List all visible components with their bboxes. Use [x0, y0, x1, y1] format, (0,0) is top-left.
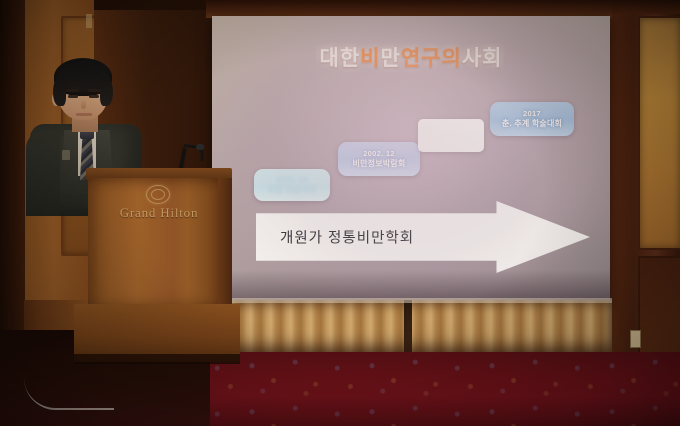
podium-brand-text: Grand Hilton	[88, 205, 230, 221]
badge-first-name: 비만 학술대회	[268, 185, 316, 195]
speaker-eye-left	[68, 95, 78, 98]
right-wall-panel-upper	[638, 16, 680, 250]
badge-2017-name: 춘. 추계 학술대회	[502, 119, 562, 129]
title-segment-1: 비	[360, 47, 380, 70]
speaker-eyebrow-right	[88, 89, 101, 92]
hotel-emblem-icon	[146, 185, 170, 204]
title-segment-2: 만	[381, 47, 401, 70]
microphone-head	[196, 144, 204, 150]
projection-screen: 대한비만연구의사회 2017 춘. 추계 학술대회 2002. 12 비만정보박…	[212, 16, 610, 304]
wall-trim	[94, 0, 212, 10]
slide-title: 대한비만연구의사회	[212, 42, 610, 72]
speaker-eye-right	[89, 95, 99, 98]
blank-placeholder-box	[418, 119, 484, 152]
title-segment-0: 대한	[320, 47, 361, 70]
hotel-emblem-inner	[151, 189, 165, 200]
door-hinge	[86, 14, 92, 28]
speaker-nose	[81, 99, 86, 109]
curtain-top-edge	[206, 298, 612, 303]
speaker-hair-left	[53, 76, 66, 106]
arrow-banner-text: 개원가 정통비만학회	[280, 227, 414, 248]
title-segment-3: 연구의	[401, 47, 462, 70]
curtain-gap	[404, 300, 412, 356]
timeline-badge-2002: 2002. 12 비만정보박람회	[338, 142, 420, 176]
badge-2002-year: 2002. 12	[363, 149, 395, 158]
arrow-banner: 개원가 정통비만학회	[256, 201, 590, 273]
badge-first-year: 2000. 03	[276, 175, 308, 184]
speaker-eyebrow-left	[66, 89, 79, 92]
timeline-badge-2017: 2017 춘. 추계 학술대회	[490, 102, 574, 136]
badge-2002-name: 비만정보박람회	[353, 159, 406, 169]
left-dark-wall	[0, 0, 24, 330]
speaker-hair-right	[100, 76, 113, 106]
right-wall-panel-lower	[638, 256, 680, 356]
title-segment-4: 사회	[462, 47, 503, 70]
conference-photo-scene: 대한비만연구의사회 2017 춘. 추계 학술대회 2002. 12 비만정보박…	[0, 0, 680, 426]
speaker-shoulder-left	[26, 132, 60, 216]
speaker-name-badge	[62, 150, 70, 160]
timeline-badge-first: 2000. 03 비만 학술대회	[254, 169, 330, 201]
podium-base-shadow	[74, 354, 240, 364]
wall-outlet	[630, 330, 641, 348]
speaker-mouth	[76, 113, 92, 116]
badge-2017-year: 2017	[523, 109, 541, 118]
